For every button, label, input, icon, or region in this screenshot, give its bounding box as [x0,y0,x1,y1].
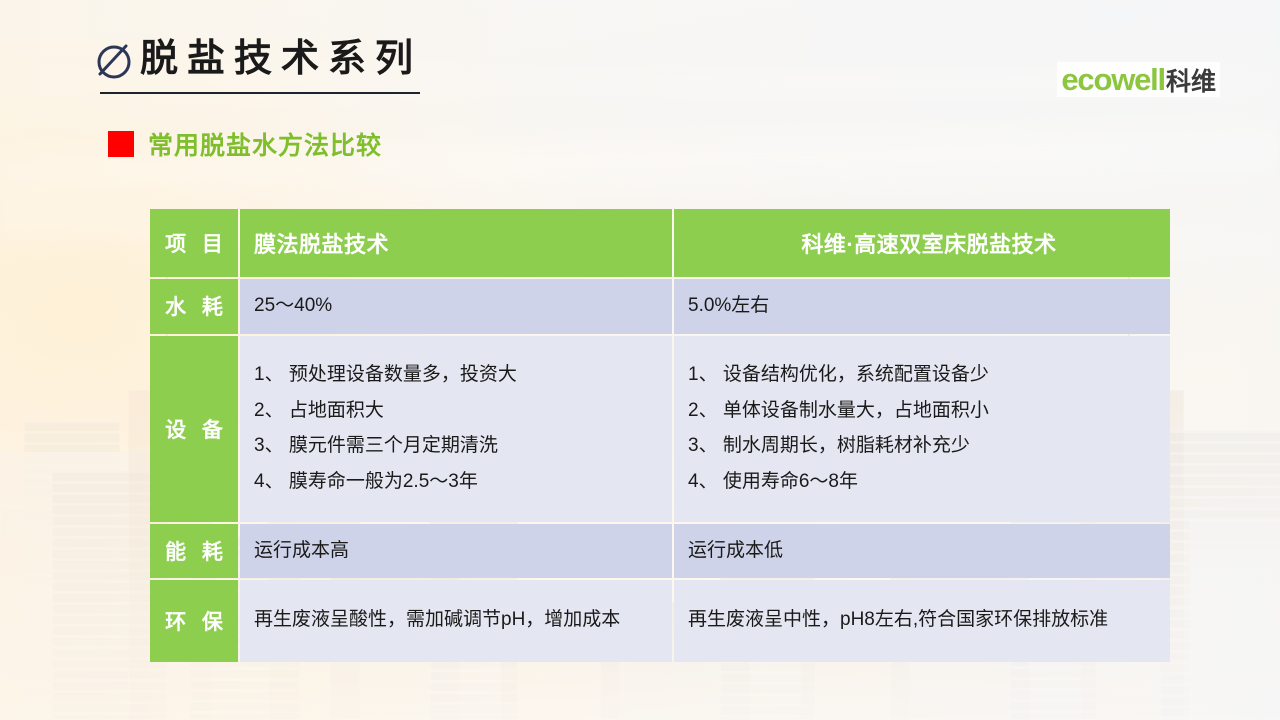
table-row: 设 备 1、 预处理设备数量多，投资大 2、 占地面积大 3、 膜元件需三个月定… [150,336,1170,522]
row-water-col1: 25～40% [240,279,672,334]
list-item: 4、 使用寿命6～8年 [688,468,1156,497]
row-water-col2: 5.0%左右 [674,279,1170,334]
list-item: 1、 预处理设备数量多，投资大 [254,361,658,390]
row-equipment-col1: 1、 预处理设备数量多，投资大 2、 占地面积大 3、 膜元件需三个月定期清洗 … [240,336,672,522]
list-item: 1、 设备结构优化，系统配置设备少 [688,361,1156,390]
page-title: 脱盐技术系列 [140,27,422,82]
title-underline-rule [100,92,420,94]
table-header-col1: 膜法脱盐技术 [240,209,672,277]
row-label-water: 水 耗 [150,279,238,334]
table-row: 水 耗 25～40% 5.0%左右 [150,279,1170,334]
list-item: 4、 膜寿命一般为2.5～3年 [254,468,658,497]
row-label-equipment: 设 备 [150,336,238,522]
row-energy-col2: 运行成本低 [674,524,1170,579]
table-row: 能 耗 运行成本高 运行成本低 [150,524,1170,579]
row-environment-col2: 再生废液呈中性，pH8左右,符合国家环保排放标准 [674,580,1170,662]
red-square-bullet-icon [108,131,134,157]
slashed-circle-icon [90,37,136,83]
table-header-col2: 科维·高速双室床脱盐技术 [674,209,1170,277]
brand-logo: ecowell 科维 [1057,62,1220,97]
list-item: 2、 单体设备制水量大，占地面积小 [688,397,1156,426]
row-label-environment: 环 保 [150,580,238,662]
table-row: 环 保 再生废液呈酸性，需加碱调节pH，增加成本 再生废液呈中性，pH8左右,符… [150,580,1170,662]
logo-text-cn: 科维 [1166,70,1216,95]
row-energy-col1: 运行成本高 [240,524,672,579]
section-subtitle-label: 常用脱盐水方法比较 [148,126,382,162]
logo-text-en: ecowell [1061,64,1165,95]
row-label-energy: 能 耗 [150,524,238,579]
section-subtitle: 常用脱盐水方法比较 [108,126,382,162]
slide-canvas: 脱盐技术系列 ecowell 科维 常用脱盐水方法比较 项 目 膜法脱盐技术 科… [0,0,1280,720]
list-item: 3、 膜元件需三个月定期清洗 [254,432,658,461]
table-header-item: 项 目 [150,209,238,277]
list-item: 3、 制水周期长，树脂耗材补充少 [688,432,1156,461]
list-item: 2、 占地面积大 [254,397,658,426]
comparison-table: 项 目 膜法脱盐技术 科维·高速双室床脱盐技术 水 耗 25～40% 5.0%左… [148,207,1172,664]
row-equipment-col2: 1、 设备结构优化，系统配置设备少 2、 单体设备制水量大，占地面积小 3、 制… [674,336,1170,522]
row-environment-col1: 再生废液呈酸性，需加碱调节pH，增加成本 [240,580,672,662]
table-header-row: 项 目 膜法脱盐技术 科维·高速双室床脱盐技术 [150,209,1170,277]
